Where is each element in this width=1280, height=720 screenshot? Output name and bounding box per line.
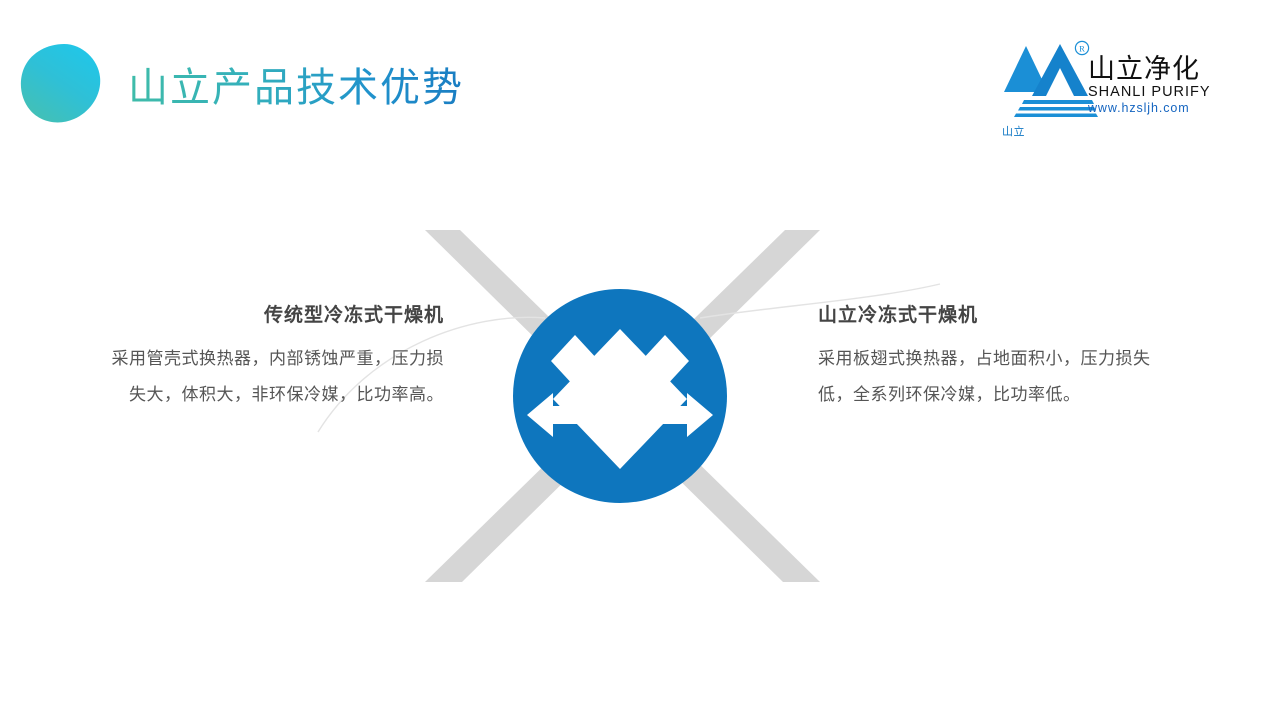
brand-website: www.hzsljh.com [1088, 101, 1224, 116]
mountain-logo-icon: R [1002, 38, 1098, 118]
right-body: 采用板翅式换热器，占地面积小，压力损失低，全系列环保冷媒，比功率低。 [818, 341, 1168, 413]
brand-text-block: 山立净化 SHANLI PURIFY www.hzsljh.com [1088, 54, 1224, 116]
comparison-column-left: 传统型冷冻式干燥机 采用管壳式换热器，内部锈蚀严重，压力损失大，体积大，非环保冷… [100, 303, 444, 413]
decorative-blob-icon [18, 42, 102, 124]
left-body: 采用管壳式换热器，内部锈蚀严重，压力损失大，体积大，非环保冷媒，比功率高。 [100, 341, 444, 413]
slide-canvas: 山立产品技术优势 R 山立 山 [0, 0, 1280, 720]
logo-mark-label: 山立 [1002, 126, 1025, 138]
brand-logo: R 山立 山立净化 SHANLI PURIFY www.hzsljh.com [1002, 38, 1220, 122]
page-title: 山立产品技术优势 [128, 62, 464, 114]
svg-text:R: R [1079, 44, 1085, 54]
left-heading: 传统型冷冻式干燥机 [100, 303, 444, 329]
brand-name-en: SHANLI PURIFY [1088, 84, 1224, 101]
right-heading: 山立冷冻式干燥机 [818, 303, 1168, 329]
exchange-diamond-arrows-icon [513, 289, 727, 503]
brand-name-cn: 山立净化 [1088, 54, 1224, 84]
comparison-column-right: 山立冷冻式干燥机 采用板翅式换热器，占地面积小，压力损失低，全系列环保冷媒，比功… [818, 303, 1168, 413]
